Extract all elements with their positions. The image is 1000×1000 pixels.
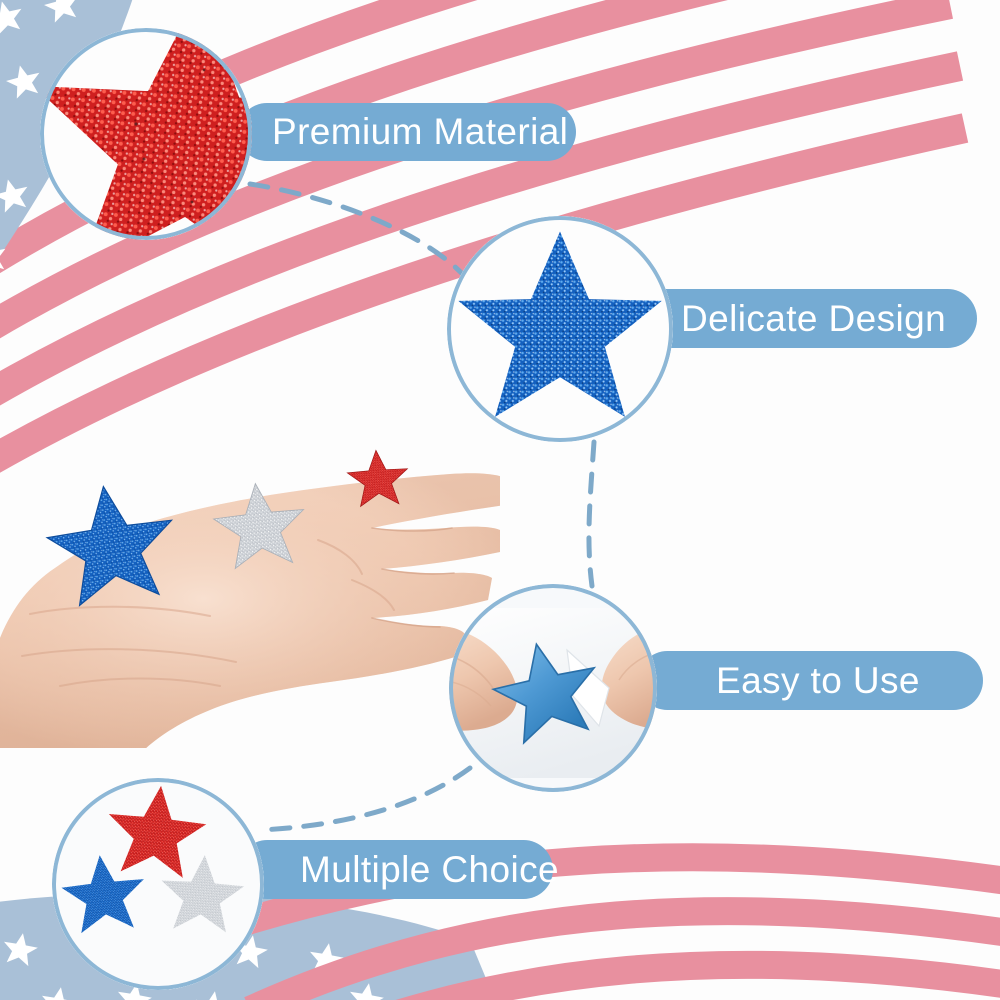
callout-premium-material[interactable] <box>40 28 252 240</box>
connector-easy-to-multiple <box>260 768 470 830</box>
connector-premium-to-delicate <box>250 184 468 280</box>
callout-multiple-choice[interactable] <box>52 778 264 990</box>
three-color-stars <box>52 778 264 990</box>
feature-label-delicate-design[interactable]: Delicate Design <box>625 289 977 348</box>
red-glitter-star-macro <box>40 28 252 240</box>
callout-easy-to-use[interactable] <box>449 584 657 792</box>
feature-label-premium-material[interactable]: Premium Material <box>238 103 576 161</box>
blue-glitter-star <box>447 216 673 442</box>
infographic-canvas: Premium Material Delicate Design Easy to… <box>0 0 1000 1000</box>
callout-delicate-design[interactable] <box>447 216 673 442</box>
peeling-star-sticker <box>449 584 657 792</box>
palm-with-stars-photo <box>0 418 500 748</box>
feature-label-easy-to-use[interactable]: Easy to Use <box>638 651 983 710</box>
feature-label-multiple-choice[interactable]: Multiple Choice <box>238 840 553 899</box>
connector-delicate-to-easy <box>589 442 594 586</box>
